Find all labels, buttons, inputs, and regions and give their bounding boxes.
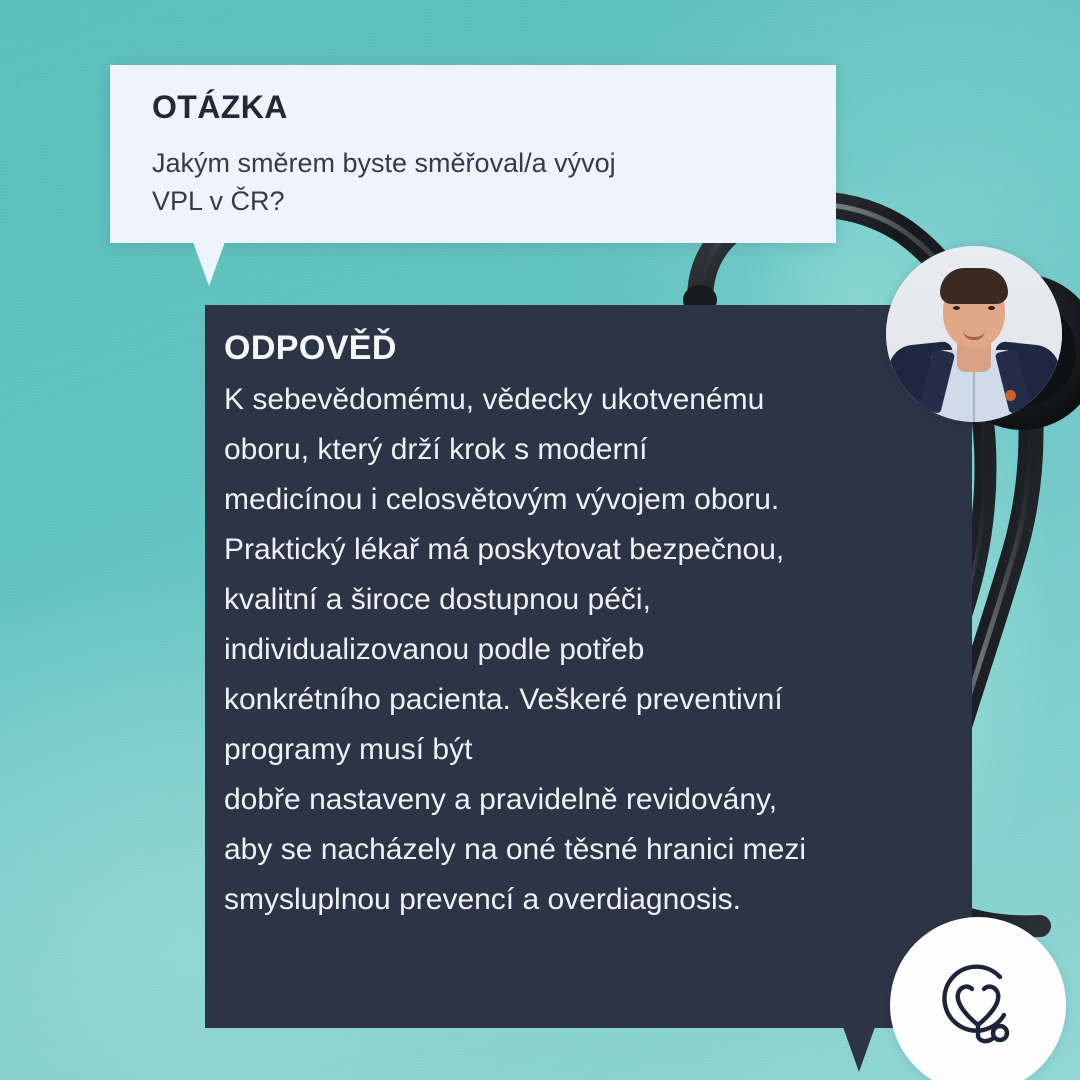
question-card-tail bbox=[193, 242, 225, 286]
social-post-canvas: OTÁZKA Jakým směrem byste směřoval/a výv… bbox=[0, 0, 1080, 1080]
logo-badge bbox=[890, 917, 1066, 1080]
question-text: Jakým směrem byste směřoval/a vývoj VPL … bbox=[152, 144, 752, 220]
answer-card: ODPOVĚĎ K sebevědomému, vědecky ukotvené… bbox=[205, 305, 972, 1028]
avatar-eye-left bbox=[953, 306, 960, 310]
question-title: OTÁZKA bbox=[152, 89, 288, 126]
answer-text: K sebevědomému, vědecky ukotvenému oboru… bbox=[224, 375, 954, 925]
avatar-lapel-pin bbox=[1005, 390, 1016, 401]
stethoscope-heart-icon bbox=[926, 953, 1030, 1057]
avatar bbox=[886, 246, 1062, 422]
answer-title: ODPOVĚĎ bbox=[224, 329, 397, 368]
question-card: OTÁZKA Jakým směrem byste směřoval/a výv… bbox=[110, 65, 836, 243]
answer-card-tail bbox=[843, 1027, 875, 1072]
avatar-eye-right bbox=[988, 306, 995, 310]
avatar-hair bbox=[940, 268, 1008, 304]
